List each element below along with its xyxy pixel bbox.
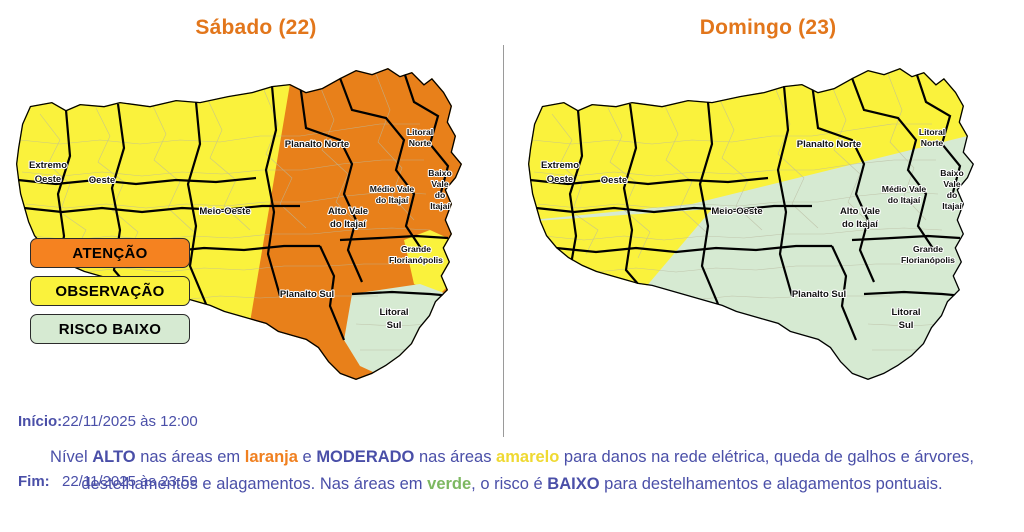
caption-l2c: , o risco é	[471, 475, 547, 493]
inicio-value: 22/11/2025 às 12:00	[62, 413, 198, 430]
label-baixo-vale: Baixo	[428, 168, 451, 178]
panel-title-saturday: Sábado (22)	[0, 16, 512, 40]
label-extremo-oeste-2: Oeste	[35, 174, 61, 185]
caption-l2a: destelhamentos e alagamentos. Nas áreas …	[81, 475, 427, 493]
forecast-panels: Sábado (22)	[0, 0, 1024, 440]
panel-saturday: Sábado (22)	[0, 0, 512, 440]
label-baixo-vale-2: Vale	[943, 179, 960, 189]
label-baixo-vale: Baixo	[940, 168, 963, 178]
label-planalto-norte: Planalto Norte	[285, 139, 349, 150]
label-medio-vale-2: do Itajaí	[376, 195, 409, 205]
label-baixo-vale-3: do	[435, 190, 446, 200]
caption-amarelo: amarelo	[496, 448, 559, 466]
label-litoral-norte: Litoral	[407, 127, 433, 137]
label-baixo-vale-3: do	[947, 190, 958, 200]
caption-l1e: e	[298, 448, 316, 466]
region-fill-risco-baixo	[344, 284, 452, 378]
label-baixo-vale-4: Itajaí	[430, 201, 450, 211]
label-litoral-norte-2: Norte	[409, 138, 432, 148]
map-svg-sunday: Extremo Oeste Oeste Meio-Oeste Planalto …	[512, 44, 1024, 394]
caption-alto: ALTO	[92, 448, 135, 466]
caption-block: Nível ALTO nas áreas em laranja e MODERA…	[0, 444, 1024, 498]
legend-item-observacao[interactable]: OBSERVAÇÃO	[30, 276, 190, 306]
label-extremo-oeste-2: Oeste	[547, 174, 573, 185]
inicio-row-saturday: Início:22/11/2025 às 12:00	[18, 412, 198, 432]
inicio-label: Início:	[18, 412, 62, 432]
label-litoral-sul: Litoral	[379, 307, 408, 318]
label-baixo-vale-2: Vale	[431, 179, 448, 189]
label-litoral-norte: Litoral	[919, 127, 945, 137]
label-litoral-sul-2: Sul	[899, 320, 914, 331]
label-litoral-sul: Litoral	[891, 307, 920, 318]
label-meio-oeste: Meio-Oeste	[199, 206, 250, 217]
caption-baixo: BAIXO	[547, 475, 599, 493]
label-medio-vale-2: do Itajaí	[888, 195, 921, 205]
caption-line-1: Nível ALTO nas áreas em laranja e MODERA…	[0, 444, 1024, 471]
label-alto-vale-2: do Itajaí	[330, 219, 366, 230]
legend-item-risco-baixo[interactable]: RISCO BAIXO	[30, 314, 190, 344]
label-grande-fpolis-2: Florianópolis	[389, 255, 443, 265]
label-litoral-sul-2: Sul	[387, 320, 402, 331]
label-planalto-norte: Planalto Norte	[797, 139, 861, 150]
label-medio-vale: Médio Vale	[882, 184, 927, 194]
label-alto-vale-2: do Itajaí	[842, 219, 878, 230]
label-planalto-sul: Planalto Sul	[792, 289, 846, 300]
caption-l1a: Nível	[50, 448, 92, 466]
label-litoral-norte-2: Norte	[921, 138, 944, 148]
caption-l1c: nas áreas em	[136, 448, 245, 466]
caption-l1g: nas áreas	[414, 448, 496, 466]
label-alto-vale: Alto Vale	[328, 206, 368, 217]
label-oeste: Oeste	[601, 175, 627, 186]
label-extremo-oeste: Extremo	[29, 160, 67, 171]
caption-moderado: MODERADO	[316, 448, 414, 466]
label-grande-fpolis: Grande	[401, 244, 431, 254]
label-meio-oeste: Meio-Oeste	[711, 206, 762, 217]
label-alto-vale: Alto Vale	[840, 206, 880, 217]
label-extremo-oeste: Extremo	[541, 160, 579, 171]
caption-verde: verde	[427, 475, 471, 493]
map-sunday: Extremo Oeste Oeste Meio-Oeste Planalto …	[512, 44, 1024, 394]
label-medio-vale: Médio Vale	[370, 184, 415, 194]
panel-sunday: Domingo (23)	[512, 0, 1024, 440]
caption-line-2: destelhamentos e alagamentos. Nas áreas …	[0, 471, 1024, 498]
label-grande-fpolis-2: Florianópolis	[901, 255, 955, 265]
panel-title-sunday: Domingo (23)	[512, 16, 1024, 40]
legend-saturday: ATENÇÃO OBSERVAÇÃO RISCO BAIXO	[30, 238, 190, 352]
panel-divider	[503, 45, 504, 437]
caption-laranja: laranja	[245, 448, 298, 466]
caption-l2e: para destelhamentos e alagamentos pontua…	[600, 475, 943, 493]
label-baixo-vale-4: Itajaí	[942, 201, 962, 211]
label-grande-fpolis: Grande	[913, 244, 943, 254]
caption-l1i: para danos na rede elétrica, queda de ga…	[559, 448, 974, 466]
map-regions-sunday	[512, 44, 1024, 394]
legend-item-atencao[interactable]: ATENÇÃO	[30, 238, 190, 268]
label-oeste: Oeste	[89, 175, 115, 186]
label-planalto-sul: Planalto Sul	[280, 289, 334, 300]
